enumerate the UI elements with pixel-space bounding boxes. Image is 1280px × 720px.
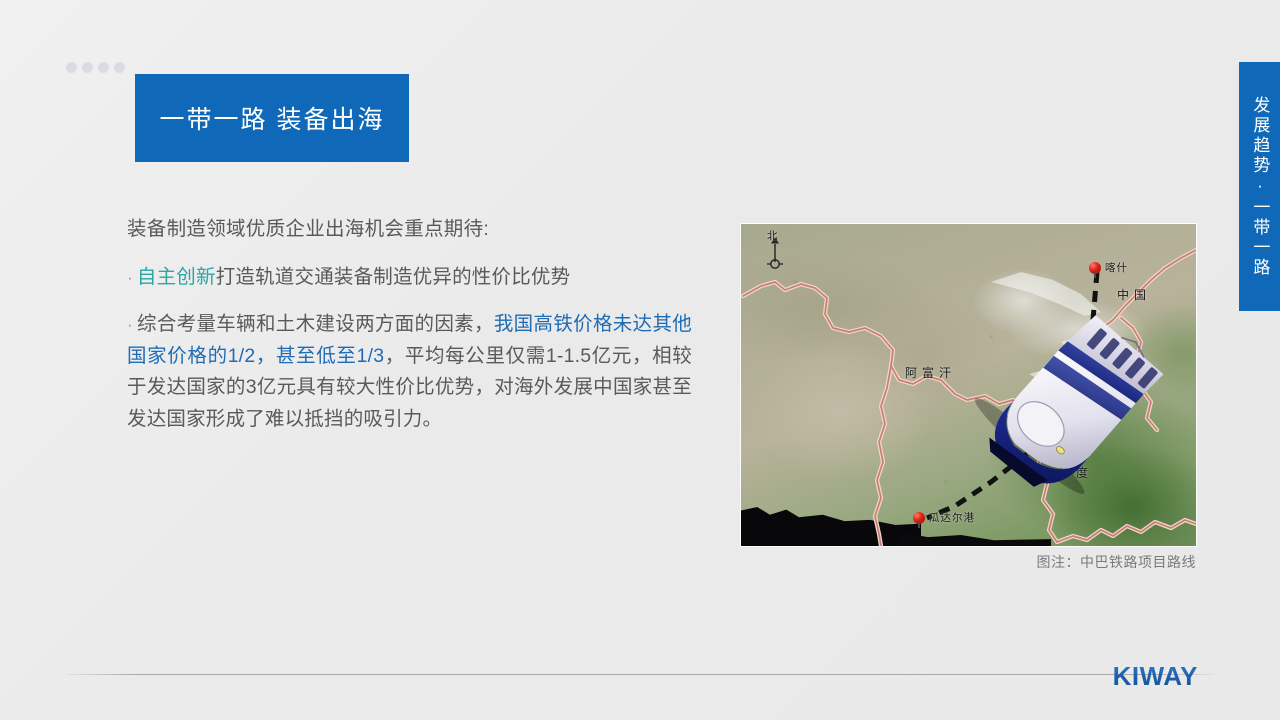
decorative-dot [82,62,93,73]
body-copy: 装备制造领域优质企业出海机会重点期待: ·自主创新打造轨道交通装备制造优异的性价… [127,220,692,451]
decorative-dots [66,62,125,73]
map-image: 北 阿富汗 中国 斯坦 印度 喀什 瓜达尔港 [741,224,1196,546]
map-pin-label-kashgar: 喀什 [1105,260,1128,275]
bullet-1-text: 打造轨道交通装备制造优异的性价比优势 [216,266,571,288]
slide-title-box: 一带一路 装备出海 [135,74,409,162]
map-figure: 北 阿富汗 中国 斯坦 印度 喀什 瓜达尔港 [741,224,1196,546]
bullet-marker: · [127,315,133,334]
bullet-1-highlight: 自主创新 [137,266,216,288]
side-tab-label: 发展趋势·一带一路 [1251,96,1269,278]
slide-canvas: 一带一路 装备出海 装备制造领域优质企业出海机会重点期待: ·自主创新打造轨道交… [0,0,1280,720]
pin-needle-icon [918,521,920,528]
lead-paragraph: 装备制造领域优质企业出海机会重点期待: [127,220,692,240]
bullet-item-2: ·综合考量车辆和土木建设两方面的因素，我国高铁价格未达其他国家价格的1/2，甚至… [127,309,692,435]
map-pin-label-gwadar: 瓜达尔港 [929,510,975,525]
map-pin-gwadar [913,512,926,525]
high-speed-train-illustration [969,310,1165,496]
brand-logo: KIWAY [1113,661,1198,692]
compass-north-label: 北 [767,228,778,243]
page-title: 一带一路 装备出海 [160,100,385,136]
bullet-marker: · [127,268,133,287]
decorative-dot [114,62,125,73]
decorative-dot [98,62,109,73]
pin-needle-icon [1094,271,1096,278]
side-tab-section[interactable]: 发展趋势·一带一路 [1239,62,1280,311]
footer-divider [66,674,1214,675]
decorative-dot [66,62,77,73]
map-label-china: 中国 [1117,286,1151,303]
map-label-afghanistan: 阿富汗 [905,364,956,381]
bullet-item-1: ·自主创新打造轨道交通装备制造优异的性价比优势 [127,262,692,294]
map-pin-kashgar [1089,262,1102,275]
figure-caption: 图注：中巴铁路项目路线 [741,552,1196,572]
bullet-2-text-a: 综合考量车辆和土木建设两方面的因素， [137,313,494,335]
